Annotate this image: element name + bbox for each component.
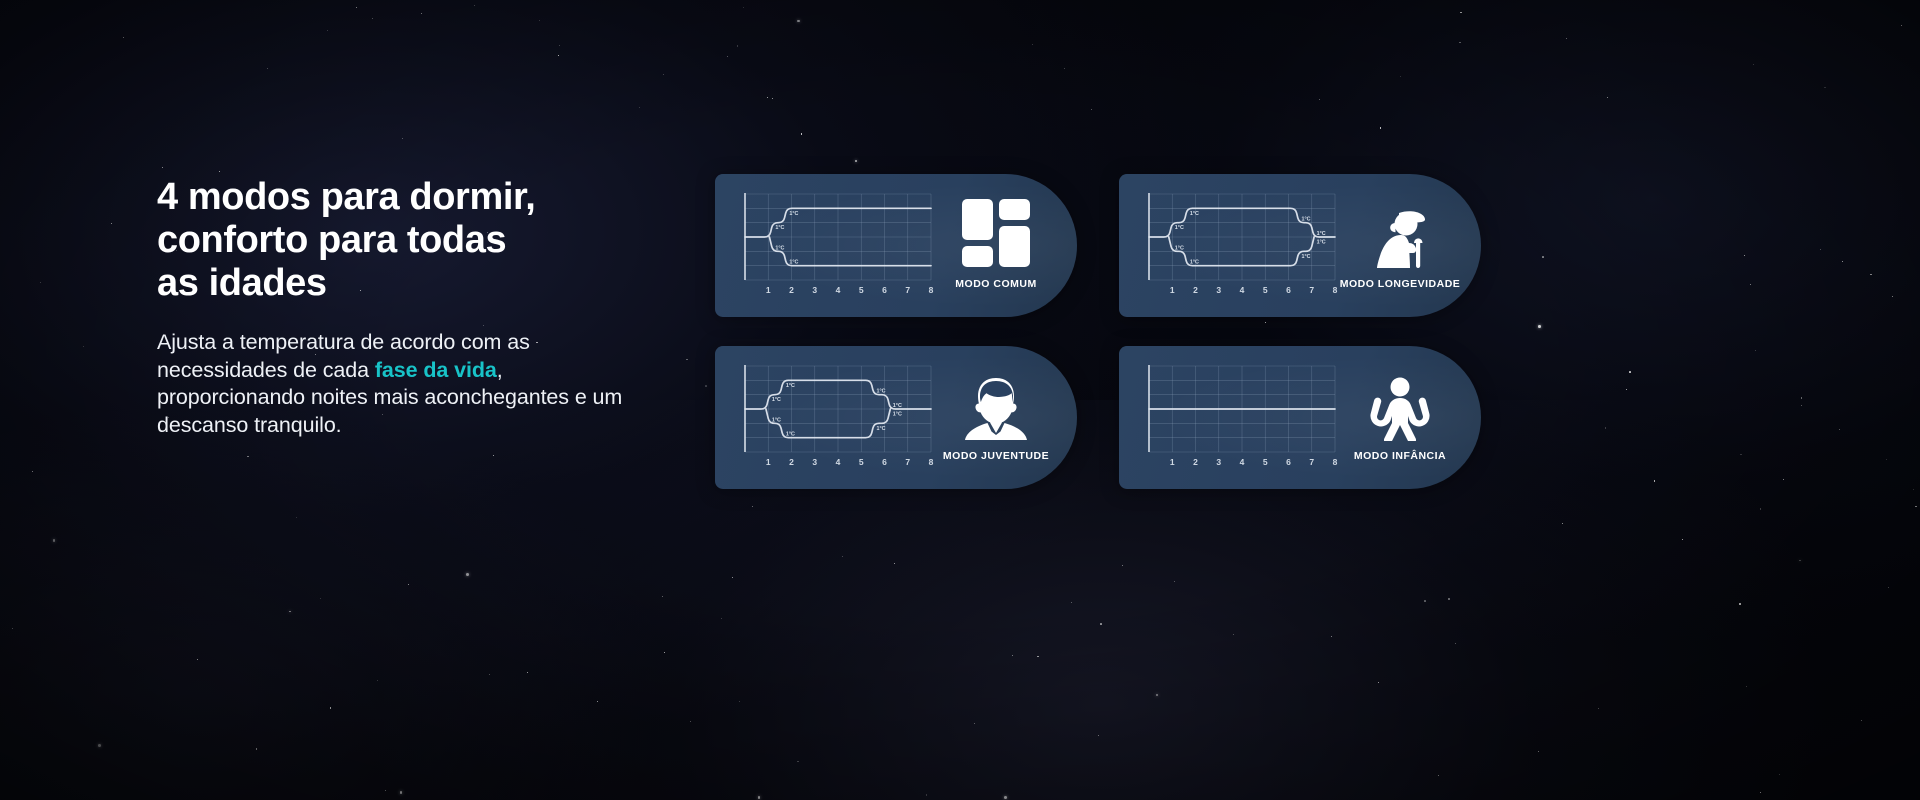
svg-text:1°C: 1°C (786, 432, 795, 438)
svg-text:6: 6 (1286, 285, 1291, 295)
svg-text:1°C: 1°C (772, 397, 781, 403)
child-icon (1370, 373, 1430, 441)
subtitle-accent: fase da vida (375, 358, 497, 382)
svg-text:1: 1 (766, 285, 771, 295)
page-title: 4 modos para dormir, conforto para todas… (157, 176, 627, 305)
svg-text:1°C: 1°C (1302, 217, 1311, 223)
mode-icon-block-modo-longevidade: MODO LONGEVIDADE (1337, 174, 1481, 317)
svg-text:4: 4 (836, 457, 841, 467)
svg-text:3: 3 (812, 285, 817, 295)
svg-text:3: 3 (1216, 457, 1221, 467)
elderly-person-icon (1365, 201, 1435, 269)
svg-text:1°C: 1°C (775, 225, 784, 231)
svg-text:4: 4 (836, 285, 841, 295)
svg-text:1°C: 1°C (893, 403, 902, 409)
mode-label-modo-juventude: MODO JUVENTUDE (943, 450, 1049, 462)
temperature-chart-modo-comum: 1°C1°C1°C1°C12345678 (715, 174, 933, 317)
mode-icon-block-modo-comum: MODO COMUM (933, 174, 1077, 317)
svg-text:5: 5 (1263, 457, 1268, 467)
svg-text:1°C: 1°C (1317, 240, 1326, 246)
svg-text:5: 5 (859, 285, 864, 295)
svg-text:1°C: 1°C (772, 417, 781, 423)
mode-card-modo-juventude[interactable]: 1°C1°C1°C1°C1°C1°C1°C1°C12345678 MODO JU… (715, 346, 1077, 489)
svg-text:7: 7 (905, 285, 910, 295)
svg-text:1°C: 1°C (1317, 231, 1326, 237)
svg-text:6: 6 (882, 285, 887, 295)
mode-label-modo-comum: MODO COMUM (955, 278, 1036, 290)
svg-text:5: 5 (1263, 285, 1268, 295)
svg-text:1°C: 1°C (1175, 245, 1184, 251)
mode-card-modo-infancia[interactable]: 12345678 MODO INFÂNCIA (1119, 346, 1481, 489)
temperature-chart-modo-longevidade: 1°C1°C1°C1°C1°C1°C1°C1°C12345678 (1119, 174, 1337, 317)
svg-text:1: 1 (1170, 457, 1175, 467)
young-man-icon (961, 373, 1031, 441)
sleep-modes-grid: 1°C1°C1°C1°C12345678 MODO COMUM1°C1°C1°C… (715, 174, 1485, 489)
svg-text:3: 3 (1216, 285, 1221, 295)
svg-text:1°C: 1°C (789, 211, 798, 217)
svg-text:1°C: 1°C (893, 412, 902, 418)
svg-text:1°C: 1°C (877, 389, 886, 395)
temperature-chart-modo-juventude: 1°C1°C1°C1°C1°C1°C1°C1°C12345678 (715, 346, 933, 489)
svg-text:1°C: 1°C (1175, 225, 1184, 231)
svg-text:2: 2 (1193, 457, 1198, 467)
svg-text:7: 7 (905, 457, 910, 467)
svg-text:7: 7 (1309, 285, 1314, 295)
mode-label-modo-infancia: MODO INFÂNCIA (1354, 450, 1446, 462)
svg-text:6: 6 (882, 457, 887, 467)
temperature-chart-modo-infancia: 12345678 (1119, 346, 1337, 489)
svg-text:1°C: 1°C (789, 260, 798, 266)
svg-text:7: 7 (1309, 457, 1314, 467)
mode-card-modo-comum[interactable]: 1°C1°C1°C1°C12345678 MODO COMUM (715, 174, 1077, 317)
svg-text:1: 1 (766, 457, 771, 467)
svg-text:1°C: 1°C (786, 383, 795, 389)
svg-text:1°C: 1°C (877, 426, 886, 432)
mode-icon-block-modo-infancia: MODO INFÂNCIA (1337, 346, 1481, 489)
svg-text:2: 2 (789, 457, 794, 467)
svg-text:4: 4 (1240, 285, 1245, 295)
svg-text:1°C: 1°C (1190, 260, 1199, 266)
mode-label-modo-longevidade: MODO LONGEVIDADE (1340, 278, 1461, 290)
page-subtitle: Ajusta a temperatura de acordo com as ne… (157, 329, 627, 439)
svg-text:3: 3 (812, 457, 817, 467)
mode-icon-block-modo-juventude: MODO JUVENTUDE (933, 346, 1077, 489)
svg-text:2: 2 (1193, 285, 1198, 295)
bed-layout-icon (960, 201, 1032, 269)
svg-text:1: 1 (1170, 285, 1175, 295)
svg-text:4: 4 (1240, 457, 1245, 467)
mode-card-modo-longevidade[interactable]: 1°C1°C1°C1°C1°C1°C1°C1°C12345678 MODO LO… (1119, 174, 1481, 317)
svg-text:1°C: 1°C (775, 245, 784, 251)
svg-text:2: 2 (789, 285, 794, 295)
svg-text:5: 5 (859, 457, 864, 467)
svg-text:6: 6 (1286, 457, 1291, 467)
svg-text:1°C: 1°C (1190, 211, 1199, 217)
copy-block: 4 modos para dormir, conforto para todas… (157, 176, 627, 439)
svg-text:1°C: 1°C (1302, 254, 1311, 260)
